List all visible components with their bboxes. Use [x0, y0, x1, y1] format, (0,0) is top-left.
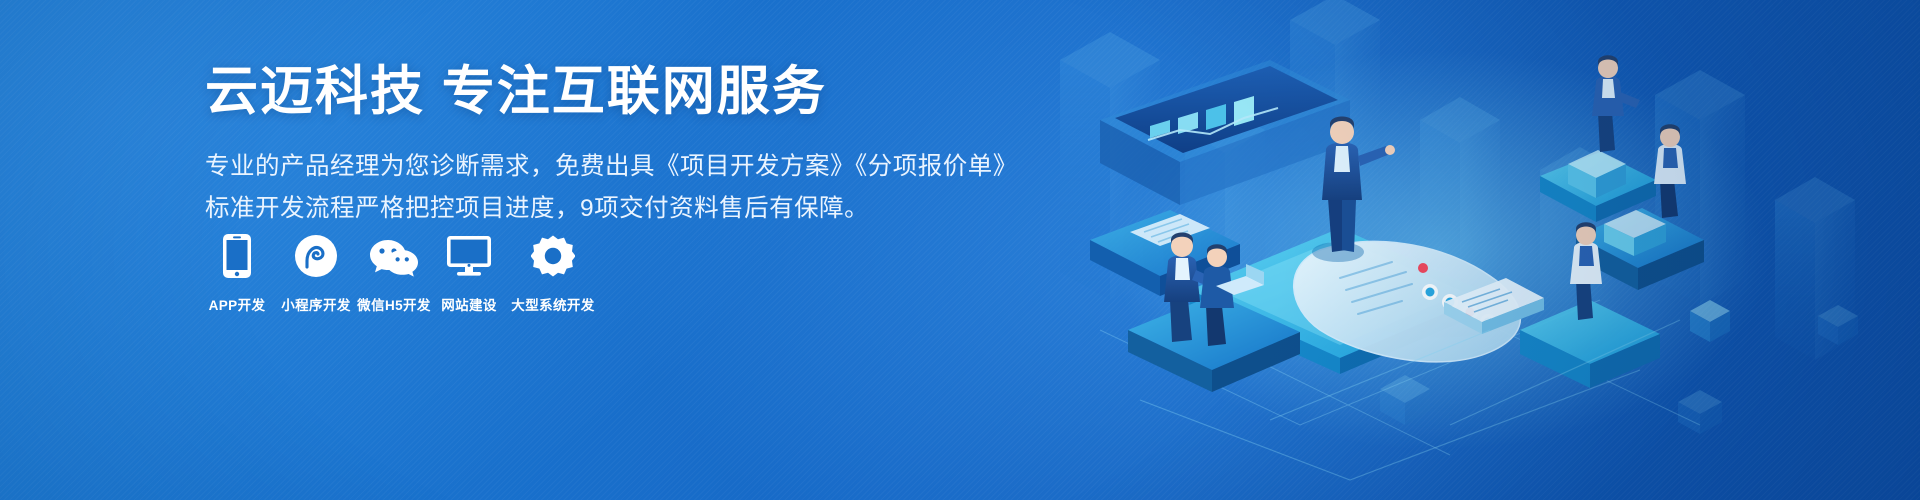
hero-banner: 云迈科技 专注互联网服务 专业的产品经理为您诊断需求，免费出具《项目开发方案》《… [0, 0, 1920, 500]
mobile-phone-icon [222, 232, 252, 280]
service-label: 微信H5开发 [357, 294, 431, 314]
monitor-icon [446, 232, 492, 280]
page-title: 云迈科技 专注互联网服务 [205, 62, 905, 121]
hero-illustration [1020, 0, 1920, 500]
wechat-icon [368, 232, 420, 280]
hero-subtitle-line-2: 标准开发流程严格把控项目进度，9项交付资料售后有保障。 [205, 189, 905, 229]
service-item-wechat-h5[interactable]: 微信H5开发 [358, 232, 430, 314]
service-label: 大型系统开发 [511, 294, 594, 314]
mini-program-icon [294, 232, 338, 280]
service-label: 网站建设 [441, 294, 497, 314]
service-label: APP开发 [209, 294, 266, 314]
service-item-mini-program[interactable]: 小程序开发 [280, 232, 352, 314]
service-item-website[interactable]: 网站建设 [434, 232, 504, 314]
service-item-app[interactable]: APP开发 [202, 232, 272, 314]
service-label: 小程序开发 [281, 294, 351, 314]
hero-subtitle-line-1: 专业的产品经理为您诊断需求，免费出具《项目开发方案》《分项报价单》 [205, 147, 905, 187]
hero-copy: 云迈科技 专注互联网服务 专业的产品经理为您诊断需求，免费出具《项目开发方案》《… [205, 62, 905, 229]
gear-icon [531, 232, 575, 280]
service-list: APP开发 小程序开发 [202, 232, 598, 314]
service-item-large-system[interactable]: 大型系统开发 [510, 232, 596, 314]
